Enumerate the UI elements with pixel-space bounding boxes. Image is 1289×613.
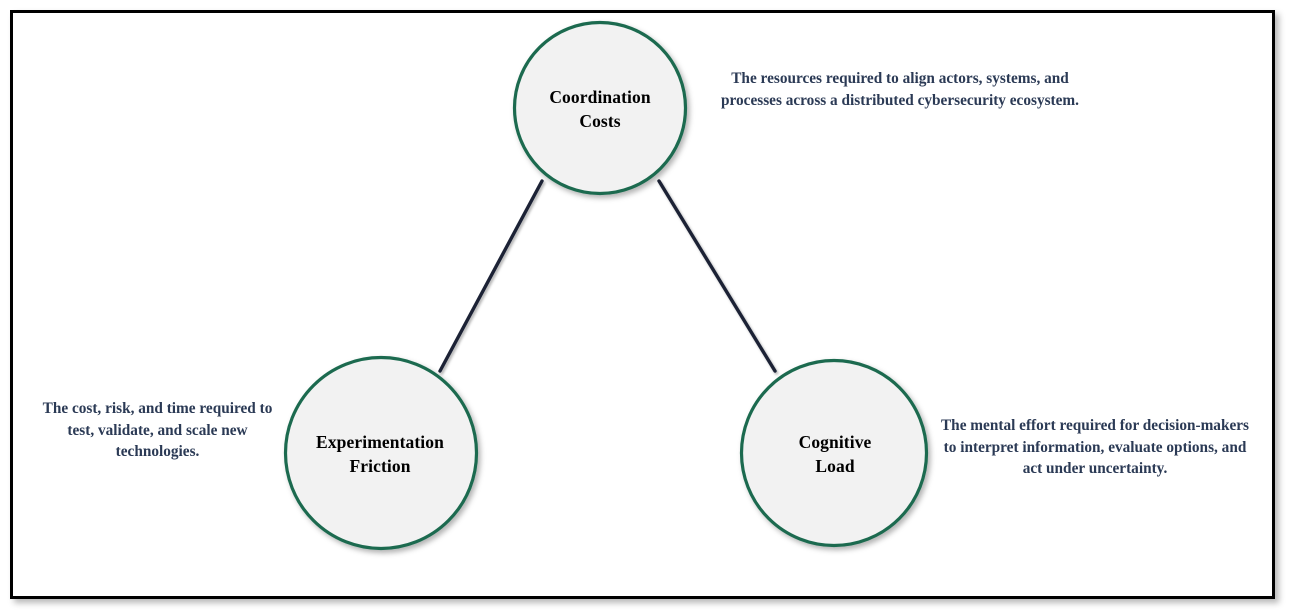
description-cognitive-load: The mental effort required for decision-… <box>935 415 1255 480</box>
description-experimentation-friction: The cost, risk, and time required to tes… <box>35 398 280 463</box>
connector-coordination-to-cognitive <box>659 181 775 371</box>
node-circle-experimentation-friction[interactable] <box>286 358 477 549</box>
connector-coordination-to-experimentation <box>440 181 542 371</box>
description-coordination-costs: The resources required to align actors, … <box>700 68 1100 111</box>
diagram-canvas: Coordination Costs Experimentation Frict… <box>0 0 1289 613</box>
node-circle-coordination-costs[interactable] <box>515 23 686 194</box>
node-circle-cognitive-load[interactable] <box>742 361 927 546</box>
